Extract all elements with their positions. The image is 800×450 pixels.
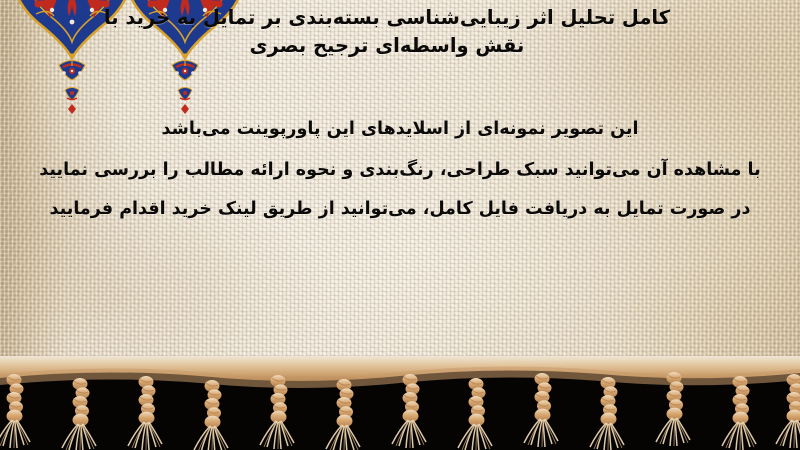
body-line-1: این تصویر نمونه‌ای از اسلایدهای این پاور… (0, 110, 800, 149)
slide-title: کامل تحلیل اثر زیبایی‌شناسی بسته‌بندی بر… (22, 4, 782, 60)
body-line-2: با مشاهده آن می‌توانید سبک طراحی، رنگ‌بن… (0, 151, 800, 190)
slide-canvas: کامل تحلیل اثر زیبایی‌شناسی بسته‌بندی بر… (0, 0, 800, 450)
slide-text-layer: کامل تحلیل اثر زیبایی‌شناسی بسته‌بندی بر… (0, 0, 800, 450)
slide-body: این تصویر نمونه‌ای از اسلایدهای این پاور… (0, 110, 800, 229)
body-line-3: در صورت تمایل به دریافت فایل کامل، می‌تو… (0, 190, 800, 229)
title-line-2: نقش واسطه‌ای ترجیح بصری (22, 32, 752, 60)
title-line-1: کامل تحلیل اثر زیبایی‌شناسی بسته‌بندی بر… (22, 4, 752, 32)
